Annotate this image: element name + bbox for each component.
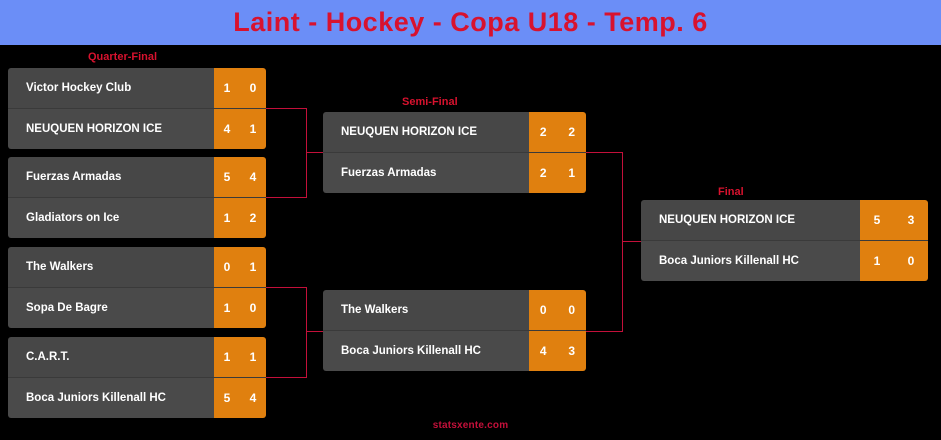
bracket-connector xyxy=(266,377,306,378)
score-leg1: 5 xyxy=(214,170,240,184)
team-row[interactable]: Fuerzas Armadas 2 1 xyxy=(323,153,586,193)
score-leg1: 4 xyxy=(214,122,240,136)
team-name: Boca Juniors Killenall HC xyxy=(641,241,860,281)
match-quarter-final-1[interactable]: Victor Hockey Club 1 0 NEUQUEN HORIZON I… xyxy=(8,68,266,149)
score-cell: 1 0 xyxy=(214,288,266,328)
team-name: The Walkers xyxy=(323,290,529,330)
score-leg2: 4 xyxy=(240,170,266,184)
match-quarter-final-3[interactable]: The Walkers 0 1 Sopa De Bagre 1 0 xyxy=(8,247,266,328)
team-name: Fuerzas Armadas xyxy=(8,157,214,197)
team-row[interactable]: Sopa De Bagre 1 0 xyxy=(8,288,266,328)
match-quarter-final-4[interactable]: C.A.R.T. 1 1 Boca Juniors Killenall HC 5… xyxy=(8,337,266,418)
score-leg2: 1 xyxy=(240,260,266,274)
score-leg2: 3 xyxy=(894,213,928,227)
bracket-connector xyxy=(586,152,622,153)
title-bar: Laint - Hockey - Copa U18 - Temp. 6 xyxy=(0,0,941,45)
team-name: Sopa De Bagre xyxy=(8,288,214,328)
bracket-connector xyxy=(586,331,622,332)
score-cell: 4 3 xyxy=(529,331,586,371)
bracket-connector xyxy=(266,287,306,288)
team-name: NEUQUEN HORIZON ICE xyxy=(8,109,214,149)
team-name: C.A.R.T. xyxy=(8,337,214,377)
score-leg1: 5 xyxy=(860,213,894,227)
round-label-final: Final xyxy=(718,186,744,198)
bracket-connector xyxy=(622,152,623,332)
score-leg1: 1 xyxy=(214,301,240,315)
score-leg2: 0 xyxy=(894,254,928,268)
score-cell: 1 0 xyxy=(214,68,266,108)
score-leg1: 1 xyxy=(214,350,240,364)
match-semi-final-2[interactable]: The Walkers 0 0 Boca Juniors Killenall H… xyxy=(323,290,586,371)
bracket-connector xyxy=(306,287,307,378)
score-cell: 4 1 xyxy=(214,109,266,149)
score-leg2: 0 xyxy=(558,303,587,317)
team-row[interactable]: Boca Juniors Killenall HC 4 3 xyxy=(323,331,586,371)
score-cell: 2 1 xyxy=(529,153,586,193)
score-leg1: 2 xyxy=(529,166,558,180)
team-row[interactable]: Victor Hockey Club 1 0 xyxy=(8,68,266,108)
team-name: Boca Juniors Killenall HC xyxy=(8,378,214,418)
team-name: Victor Hockey Club xyxy=(8,68,214,108)
page-title: Laint - Hockey - Copa U18 - Temp. 6 xyxy=(233,7,708,38)
bracket-connector xyxy=(306,108,307,198)
team-row[interactable]: C.A.R.T. 1 1 xyxy=(8,337,266,377)
score-leg2: 1 xyxy=(240,350,266,364)
score-leg1: 2 xyxy=(529,125,558,139)
score-cell: 0 0 xyxy=(529,290,586,330)
team-row[interactable]: NEUQUEN HORIZON ICE 5 3 xyxy=(641,200,928,240)
bracket-connector xyxy=(266,108,306,109)
team-name: The Walkers xyxy=(8,247,214,287)
team-row[interactable]: Fuerzas Armadas 5 4 xyxy=(8,157,266,197)
score-leg1: 1 xyxy=(214,81,240,95)
team-row[interactable]: Gladiators on Ice 1 2 xyxy=(8,198,266,238)
score-cell: 5 4 xyxy=(214,378,266,418)
score-cell: 1 1 xyxy=(214,337,266,377)
score-cell: 1 2 xyxy=(214,198,266,238)
team-row[interactable]: The Walkers 0 1 xyxy=(8,247,266,287)
team-row[interactable]: Boca Juniors Killenall HC 5 4 xyxy=(8,378,266,418)
footer-watermark: statsxente.com xyxy=(0,420,941,431)
team-name: Gladiators on Ice xyxy=(8,198,214,238)
score-cell: 5 4 xyxy=(214,157,266,197)
bracket-connector xyxy=(266,197,306,198)
bracket-connector xyxy=(306,331,324,332)
team-row[interactable]: NEUQUEN HORIZON ICE 4 1 xyxy=(8,109,266,149)
team-name: Boca Juniors Killenall HC xyxy=(323,331,529,371)
team-row[interactable]: Boca Juniors Killenall HC 1 0 xyxy=(641,241,928,281)
score-leg1: 4 xyxy=(529,344,558,358)
bracket-connector xyxy=(622,241,642,242)
score-leg2: 0 xyxy=(240,81,266,95)
score-leg2: 2 xyxy=(558,125,587,139)
team-name: NEUQUEN HORIZON ICE xyxy=(641,200,860,240)
score-cell: 2 2 xyxy=(529,112,586,152)
bracket-connector xyxy=(306,152,324,153)
round-label-semi-final: Semi-Final xyxy=(402,96,458,108)
score-leg1: 0 xyxy=(529,303,558,317)
score-leg2: 1 xyxy=(240,122,266,136)
match-semi-final-1[interactable]: NEUQUEN HORIZON ICE 2 2 Fuerzas Armadas … xyxy=(323,112,586,193)
team-name: Fuerzas Armadas xyxy=(323,153,529,193)
score-cell: 5 3 xyxy=(860,200,928,240)
team-name: NEUQUEN HORIZON ICE xyxy=(323,112,529,152)
score-leg2: 3 xyxy=(558,344,587,358)
score-leg1: 1 xyxy=(860,254,894,268)
score-cell: 1 0 xyxy=(860,241,928,281)
score-leg2: 2 xyxy=(240,211,266,225)
match-quarter-final-2[interactable]: Fuerzas Armadas 5 4 Gladiators on Ice 1 … xyxy=(8,157,266,238)
score-leg1: 5 xyxy=(214,391,240,405)
score-leg2: 0 xyxy=(240,301,266,315)
score-cell: 0 1 xyxy=(214,247,266,287)
team-row[interactable]: NEUQUEN HORIZON ICE 2 2 xyxy=(323,112,586,152)
score-leg1: 1 xyxy=(214,211,240,225)
score-leg2: 1 xyxy=(558,166,587,180)
round-label-quarter-final: Quarter-Final xyxy=(88,51,157,63)
score-leg1: 0 xyxy=(214,260,240,274)
match-final[interactable]: NEUQUEN HORIZON ICE 5 3 Boca Juniors Kil… xyxy=(641,200,928,281)
score-leg2: 4 xyxy=(240,391,266,405)
team-row[interactable]: The Walkers 0 0 xyxy=(323,290,586,330)
